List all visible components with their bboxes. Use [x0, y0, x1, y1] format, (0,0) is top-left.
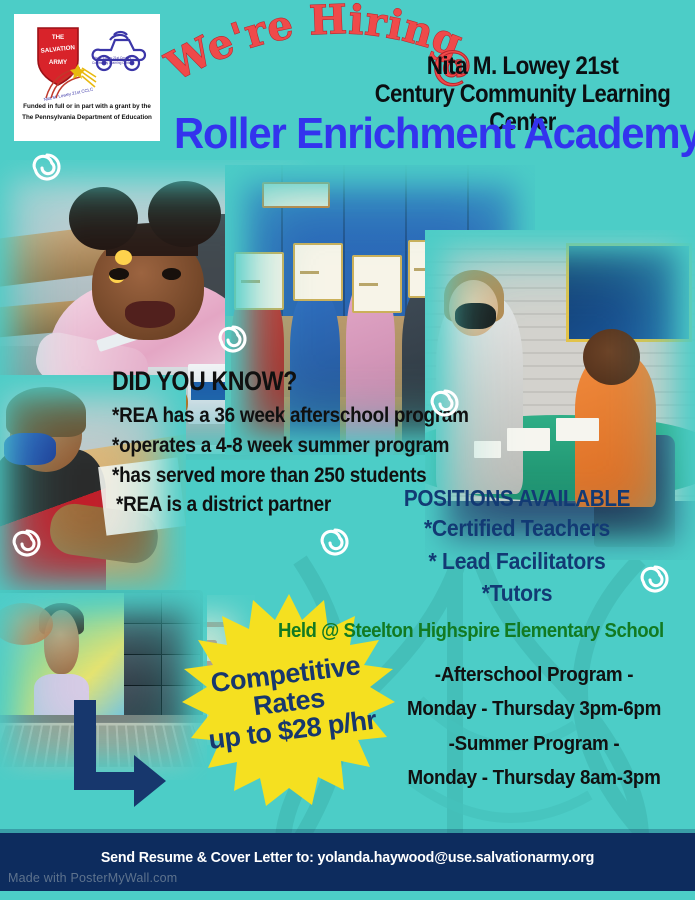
position-item: *Certified Teachers	[365, 512, 669, 545]
funding-line-2: The Pennsylvania Department of Education	[20, 113, 154, 124]
c21-learning-centers-icon: Nita M. Lowey 21st CCLC	[38, 60, 112, 102]
schedule-line: Monday - Thursday 8am-3pm	[387, 761, 680, 795]
down-right-arrow-icon	[66, 700, 171, 810]
positions-available-section: POSITIONS AVAILABLE *Certified Teachers …	[352, 485, 682, 610]
position-item: *Tutors	[365, 577, 669, 610]
c21-label-text: Nita M. Lowey 21st Century Community Lea…	[92, 56, 138, 66]
footer-contact-bar: Send Resume & Cover Letter to: yolanda.h…	[0, 833, 695, 892]
schedule-line: -Summer Program -	[387, 727, 680, 761]
position-item: * Lead Facilitators	[365, 545, 669, 578]
spiral-icon	[30, 150, 64, 184]
org-line-1: Nita M. Lowey 21st	[367, 52, 678, 80]
pay-rate-text: Competitive Rates up to $28 p/hr	[165, 579, 412, 826]
funding-line-1: Funded in full or in part with a grant b…	[20, 102, 154, 113]
hiring-flyer-poster: THE SALVATION ARMY	[0, 0, 695, 900]
schedule-line: -Afterschool Program -	[387, 658, 680, 692]
schedule-section: -Afterschool Program - Monday - Thursday…	[378, 658, 690, 796]
spiral-icon	[318, 525, 352, 559]
spiral-icon	[216, 322, 250, 356]
spiral-icon	[638, 562, 672, 596]
svg-text:Nita M. Lowey 21st CCLC: Nita M. Lowey 21st CCLC	[43, 87, 93, 102]
spiral-icon	[10, 526, 44, 560]
location-line: Held @ Steelton Highspire Elementary Sch…	[278, 620, 661, 643]
postermywall-watermark: Made with PosterMyWall.com	[8, 871, 177, 885]
positions-title: POSITIONS AVAILABLE	[369, 485, 666, 512]
funding-logo-card: THE SALVATION ARMY	[14, 14, 160, 141]
bottom-teal-strip	[0, 891, 695, 900]
schedule-line: Monday - Thursday 3pm-6pm	[387, 692, 680, 726]
svg-text:THE: THE	[52, 34, 64, 41]
did-you-know-item: *operates a 4-8 week summer program	[112, 431, 490, 461]
academy-title: Roller Enrichment Academy	[174, 112, 664, 156]
footer-contact-text: Send Resume & Cover Letter to: yolanda.h…	[17, 849, 677, 866]
spiral-icon	[428, 386, 462, 420]
did-you-know-title: DID YOU KNOW?	[112, 366, 473, 397]
